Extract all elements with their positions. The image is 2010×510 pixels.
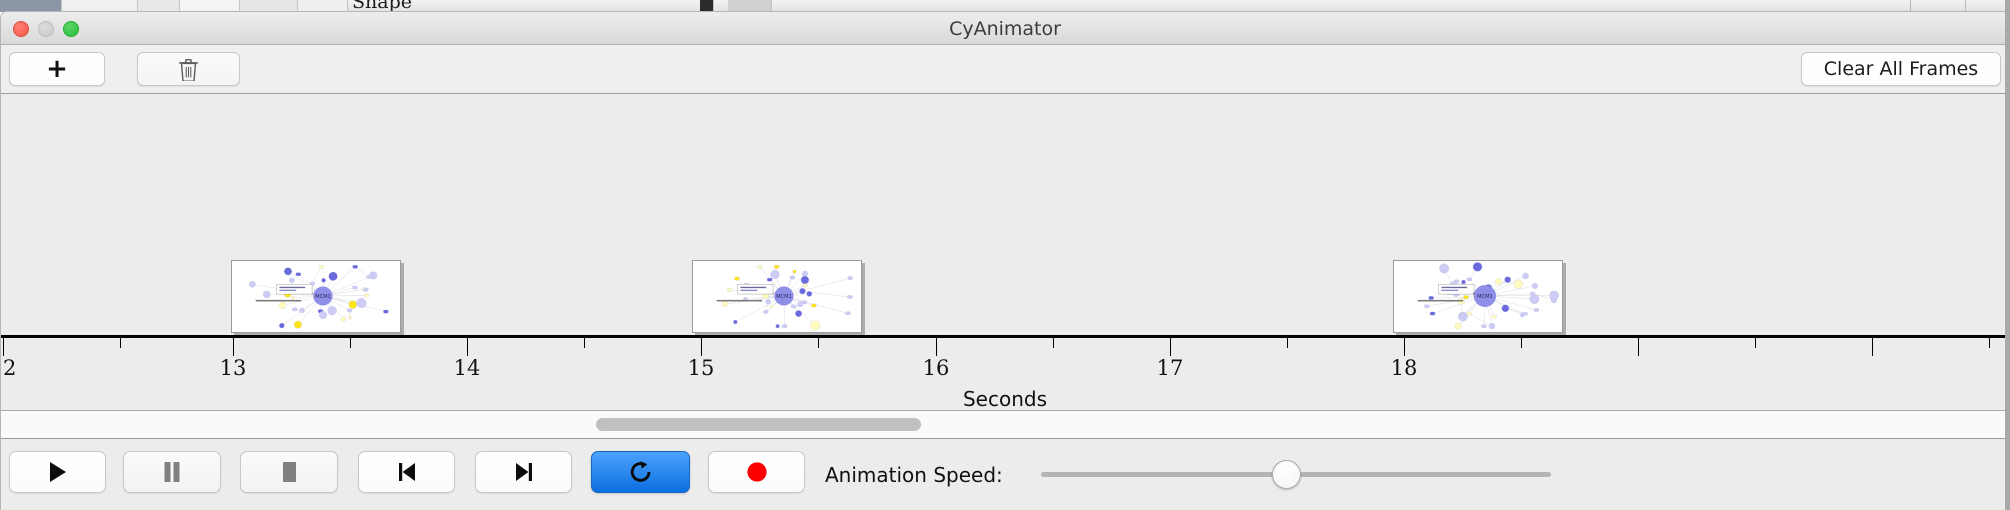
- ruler-tick-label: 13: [220, 356, 247, 380]
- loop-icon: [628, 459, 654, 485]
- ruler-tick-minor: [1521, 338, 1522, 348]
- svg-text:MCM1: MCM1: [1477, 294, 1493, 300]
- add-frame-button[interactable]: +: [9, 52, 105, 86]
- timeline-frame-thumbnail[interactable]: MCM1: [692, 260, 862, 333]
- previous-frame-button[interactable]: [358, 451, 455, 493]
- ruler-tick-major: [467, 338, 468, 356]
- timeline-frame-thumbnail[interactable]: MCM1: [1393, 260, 1563, 333]
- play-button[interactable]: [9, 451, 106, 493]
- clear-all-frames-label: Clear All Frames: [1824, 58, 1978, 80]
- pause-button[interactable]: [123, 451, 221, 493]
- ruler-tick-minor: [1053, 338, 1054, 348]
- ruler-tick-minor: [350, 338, 351, 348]
- ruler-tick-major: [701, 338, 702, 356]
- ruler-tick-label: 14: [454, 356, 481, 380]
- skip-forward-icon: [512, 460, 536, 484]
- ruler-tick-label: 12: [1, 356, 16, 380]
- record-button[interactable]: [708, 451, 805, 493]
- ruler-tick-minor: [1989, 338, 1990, 348]
- timeline-scrollbar-thumb[interactable]: [596, 418, 921, 431]
- ruler-tick-label: 17: [1157, 356, 1184, 380]
- skip-back-icon: [395, 460, 419, 484]
- stop-button[interactable]: [240, 451, 338, 493]
- title-bar: CyAnimator: [1, 12, 2009, 45]
- timeline-ruler: 12131415161718 Seconds: [1, 335, 2009, 411]
- timeline-panel[interactable]: MCM1MCM1MCM1 12131415161718 Seconds: [1, 94, 2009, 411]
- trash-icon: [178, 58, 199, 81]
- animation-speed-slider[interactable]: [1041, 472, 1551, 477]
- clear-all-frames-button[interactable]: Clear All Frames: [1801, 52, 2001, 86]
- ruler-tick-major: [1404, 338, 1405, 356]
- animation-speed-label: Animation Speed:: [825, 463, 1003, 487]
- ruler-tick-minor: [584, 338, 585, 348]
- svg-text:MCM1: MCM1: [776, 294, 792, 300]
- ruler-tick-major: [1638, 338, 1639, 356]
- ruler-tick-major: [3, 338, 4, 356]
- playback-control-bar: Animation Speed:: [1, 439, 2009, 509]
- ruler-tick-minor: [1287, 338, 1288, 348]
- ruler-tick-label: 15: [688, 356, 715, 380]
- svg-text:MCM1: MCM1: [315, 294, 331, 300]
- axis-title: Seconds: [1, 387, 2009, 411]
- stop-icon: [279, 460, 299, 484]
- cyanimator-window: CyAnimator + Clear All Frames MCM1MCM1MC…: [0, 11, 2010, 510]
- animation-speed-slider-thumb[interactable]: [1272, 460, 1301, 489]
- plus-icon: +: [46, 56, 68, 82]
- pause-icon: [162, 460, 182, 484]
- ruler-tick-minor: [818, 338, 819, 348]
- timeline-scrollbar[interactable]: [1, 411, 2009, 439]
- loop-button[interactable]: [591, 451, 690, 493]
- window-title: CyAnimator: [1, 18, 2009, 40]
- toolbar: + Clear All Frames: [1, 45, 2009, 94]
- ruler-tick-major: [1872, 338, 1873, 356]
- next-frame-button[interactable]: [475, 451, 572, 493]
- record-icon: [745, 460, 769, 484]
- ruler-tick-minor: [120, 338, 121, 348]
- ruler-tick-major: [1170, 338, 1171, 356]
- ruler-tick-label: 16: [923, 356, 950, 380]
- ruler-tick-minor: [1755, 338, 1756, 348]
- desktop-right-edge: [2005, 0, 2010, 510]
- ruler-tick-major: [233, 338, 234, 356]
- ruler-baseline: [1, 335, 2009, 338]
- play-icon: [47, 460, 69, 484]
- delete-frame-button[interactable]: [137, 52, 240, 86]
- timeline-frame-thumbnail[interactable]: MCM1: [231, 260, 401, 333]
- ruler-tick-major: [936, 338, 937, 356]
- ruler-tick-label: 18: [1391, 356, 1418, 380]
